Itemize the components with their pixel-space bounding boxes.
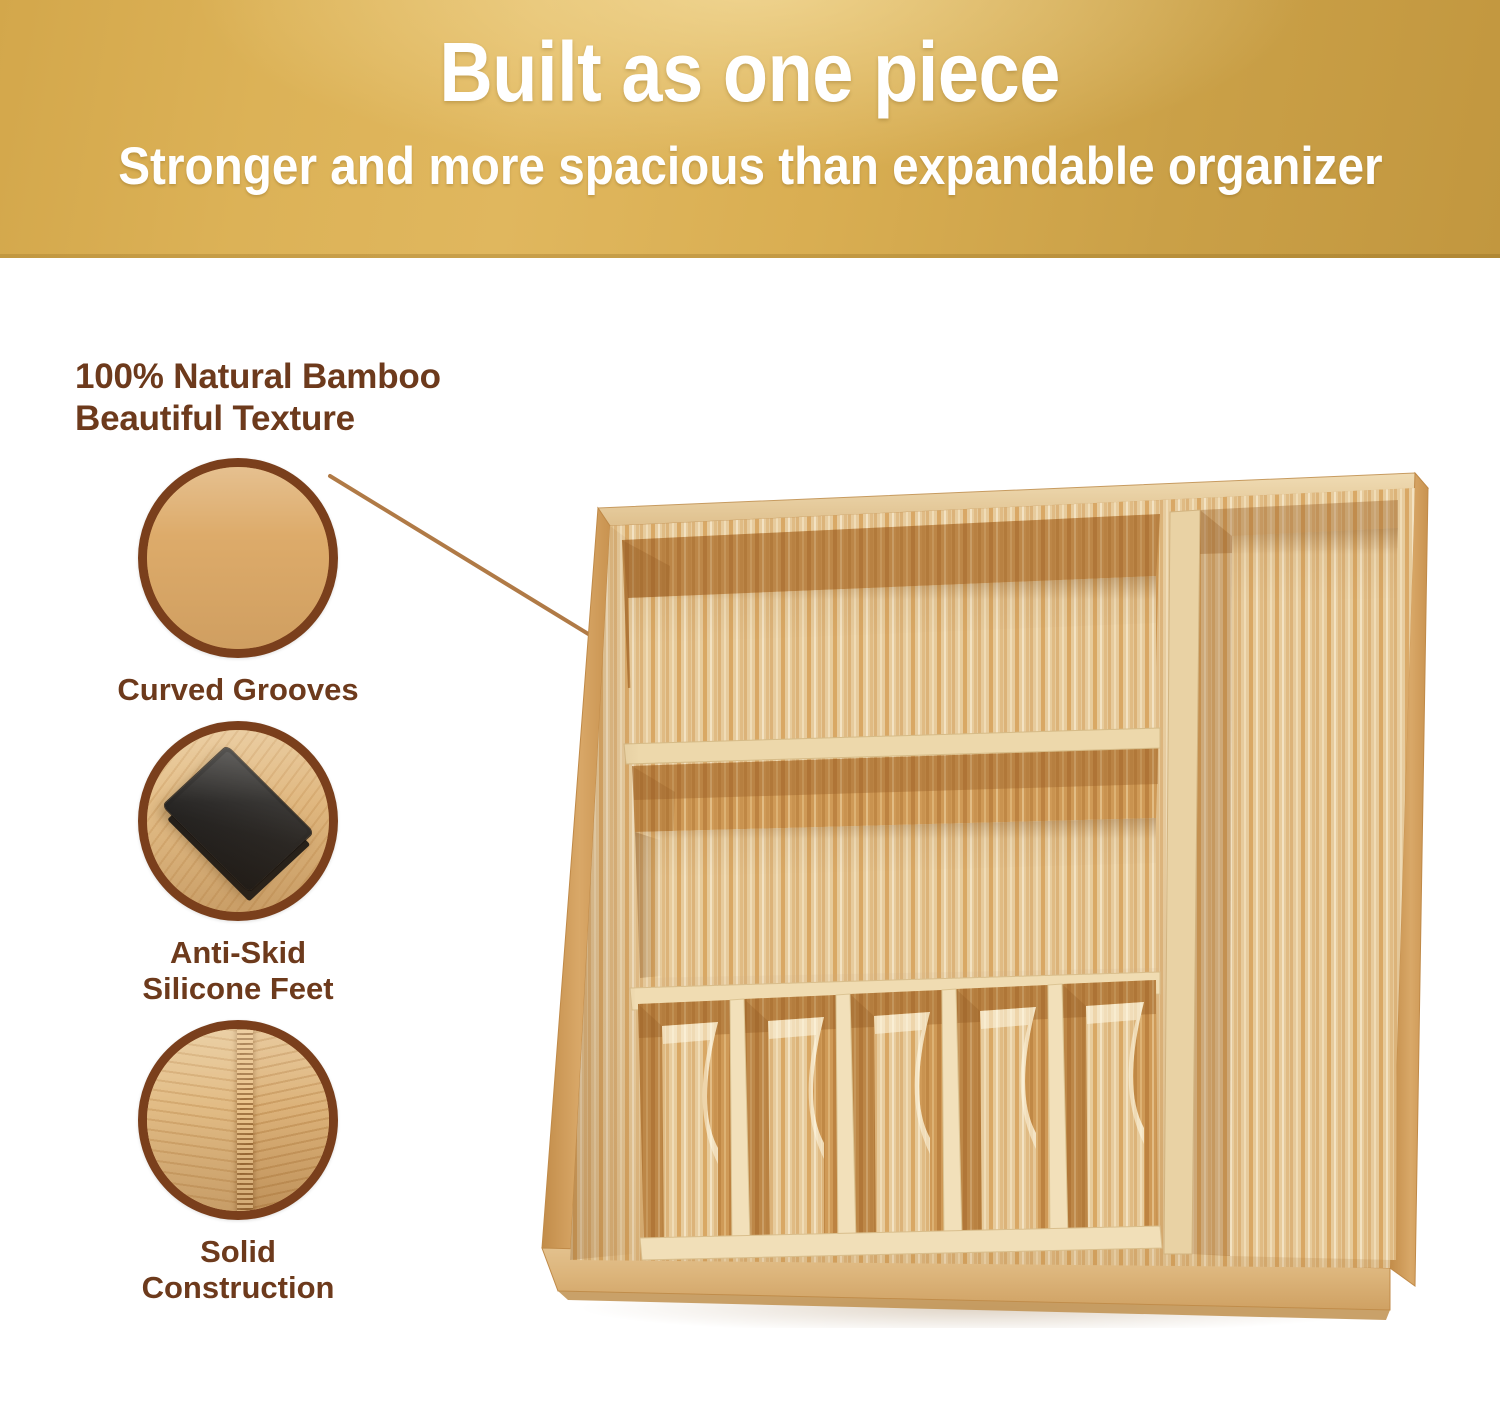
product-photo-bamboo-organizer bbox=[510, 448, 1440, 1328]
bamboo-drawer-organizer bbox=[510, 448, 1440, 1328]
compartment-mid-left bbox=[632, 748, 1158, 978]
feature-list: Curved Grooves Anti-Skid Silicone Feet S… bbox=[58, 458, 418, 1319]
bamboo-corner-joint-icon bbox=[138, 1020, 338, 1220]
feature-solid-construction: Solid Construction bbox=[58, 1020, 418, 1307]
utensil-slot bbox=[638, 1000, 732, 1246]
header-banner-content: Built as one piece Stronger and more spa… bbox=[0, 0, 1500, 258]
black-silicone-foot-icon bbox=[138, 721, 338, 921]
utensil-slot-row bbox=[638, 980, 1158, 1246]
callout-heading: 100% Natural Bamboo Beautiful Texture bbox=[75, 356, 635, 440]
compartment-right-tall bbox=[1192, 500, 1398, 1260]
callout-heading-line1: 100% Natural Bamboo bbox=[75, 357, 441, 396]
callout-heading-line2: Beautiful Texture bbox=[75, 399, 355, 438]
header-banner: Built as one piece Stronger and more spa… bbox=[0, 0, 1500, 258]
utensil-slot bbox=[956, 985, 1050, 1240]
banner-title: Built as one piece bbox=[440, 30, 1061, 114]
feature-label-curved-grooves: Curved Grooves bbox=[117, 672, 358, 709]
utensil-slot bbox=[850, 990, 944, 1242]
utensil-slot bbox=[744, 995, 838, 1244]
compartment-top-left bbox=[622, 514, 1160, 752]
feature-label-solid-construction: Solid Construction bbox=[142, 1234, 335, 1307]
utensil-slot bbox=[1062, 980, 1158, 1238]
feature-label-anti-skid-feet: Anti-Skid Silicone Feet bbox=[142, 935, 333, 1008]
bamboo-curved-grooves-icon bbox=[138, 458, 338, 658]
infographic-page: Built as one piece Stronger and more spa… bbox=[0, 0, 1500, 1427]
body-area: 100% Natural Bamboo Beautiful Texture Cu… bbox=[0, 258, 1500, 1427]
feature-curved-grooves: Curved Grooves bbox=[58, 458, 418, 709]
banner-subtitle: Stronger and more spacious than expandab… bbox=[118, 140, 1382, 193]
feature-anti-skid-feet: Anti-Skid Silicone Feet bbox=[58, 721, 418, 1008]
